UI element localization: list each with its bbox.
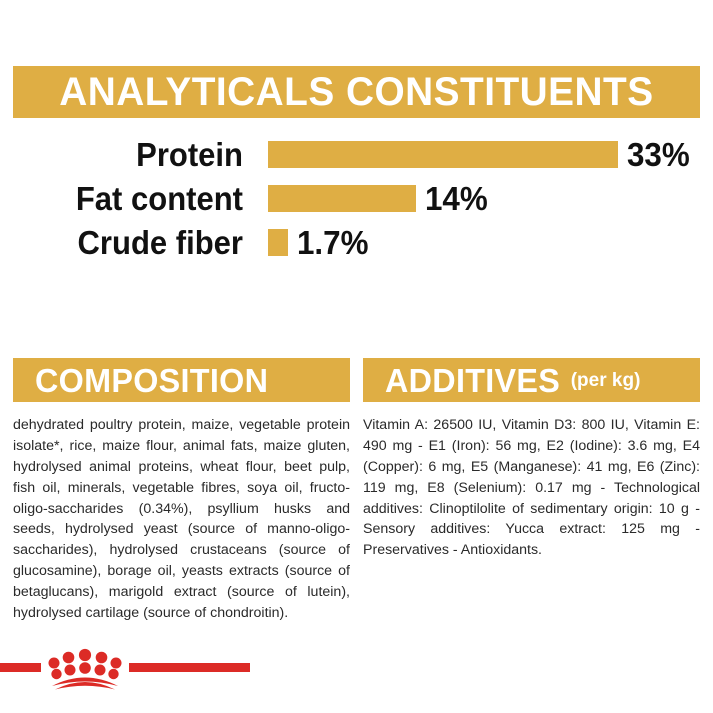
additives-panel: ADDITIVES (per kg) Vitamin A: 26500 IU, … [363, 358, 700, 638]
footer-brand-logo [0, 636, 250, 696]
composition-banner: COMPOSITION [13, 358, 350, 402]
analyticals-title: ANALYTICALS CONSTITUENTS [59, 72, 653, 112]
bar-track-protein: 33% [268, 138, 713, 171]
bar-label-fat-content: Fat content [15, 182, 243, 215]
bar-value-fat-content: 14% [425, 182, 488, 215]
additives-title: ADDITIVES [385, 364, 560, 397]
bar-row-protein: Protein 33% [0, 132, 713, 176]
royal-canin-crown-icon [0, 636, 250, 696]
bar-label-protein: Protein [15, 138, 243, 171]
bar-value-crude-fiber: 1.7% [297, 226, 368, 259]
ingredient-panels: COMPOSITION dehydrated poultry protein, … [13, 358, 700, 638]
bar-label-crude-fiber: Crude fiber [15, 226, 243, 259]
additives-body-text: Vitamin A: 26500 IU, Vitamin D3: 800 IU,… [363, 415, 700, 561]
composition-panel: COMPOSITION dehydrated poultry protein, … [13, 358, 350, 638]
analyticals-banner: ANALYTICALS CONSTITUENTS [13, 66, 700, 118]
bar-row-fat-content: Fat content 14% [0, 176, 713, 220]
composition-title: COMPOSITION [35, 364, 268, 397]
bar-fill-protein [268, 141, 618, 168]
additives-subtitle: (per kg) [571, 371, 641, 390]
additives-banner: ADDITIVES (per kg) [363, 358, 700, 402]
bar-value-protein: 33% [627, 138, 690, 171]
bar-track-crude-fiber: 1.7% [268, 226, 713, 259]
analyticals-bar-chart: Protein 33% Fat content 14% Crude fiber … [0, 132, 713, 264]
composition-body-text: dehydrated poultry protein, maize, veget… [13, 415, 350, 624]
bar-fill-fat-content [268, 185, 416, 212]
bar-fill-crude-fiber [268, 229, 288, 256]
bar-row-crude-fiber: Crude fiber 1.7% [0, 220, 713, 264]
bar-track-fat-content: 14% [268, 182, 713, 215]
